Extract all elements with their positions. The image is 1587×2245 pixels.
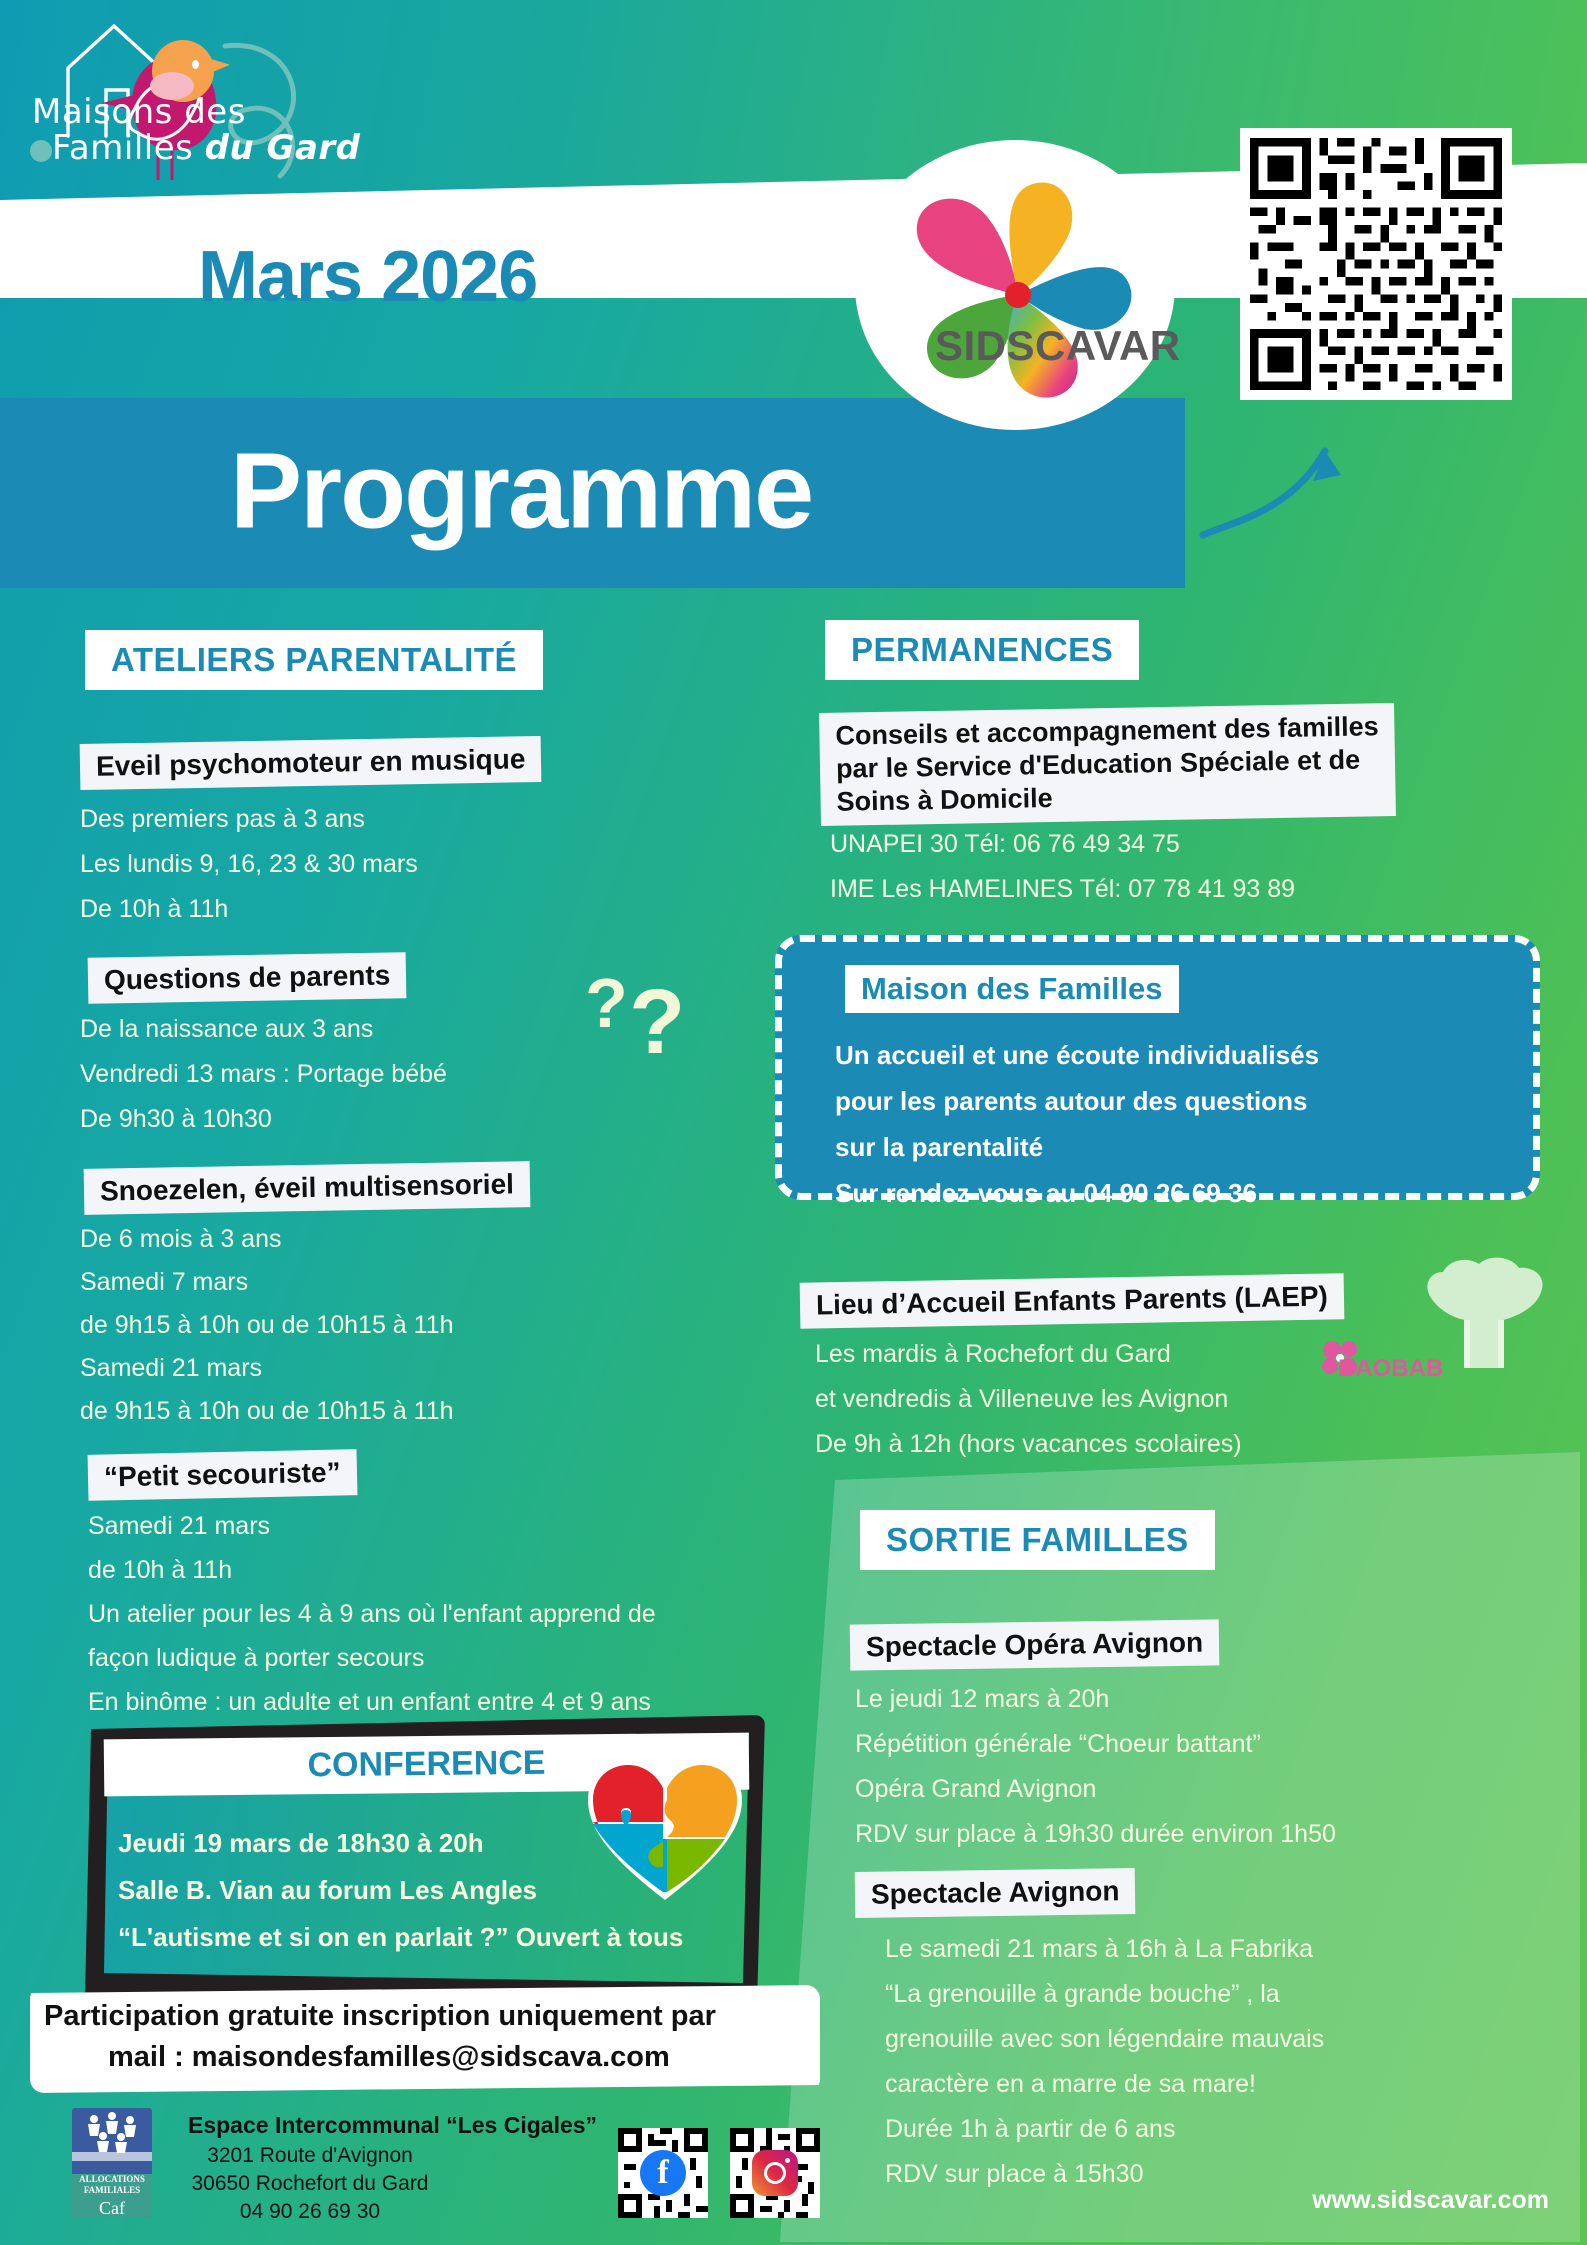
phone-number: 04 90 26 69 30 [130,2200,490,2224]
sidscavar-logo: SIDSCAVAR [855,140,1175,410]
atelier-title-0: Eveil psychomoteur en musique [80,736,542,790]
website-url[interactable]: www.sidscavar.com [1312,2186,1549,2215]
venue-name: Espace Intercommunal “Les Cigales” [188,2112,597,2139]
laep-line-2: De 9h à 12h (hors vacances scolaires) [815,1430,1242,1459]
address-line-1: 3201 Route d'Avignon [130,2144,490,2168]
maison-box-line-1: pour les parents autour des questions [835,1086,1307,1117]
section-title-permanences: PERMANENCES [825,620,1139,680]
atelier-title-2: Snoezelen, éveil multisensoriel [84,1161,531,1215]
conference-line-0: Jeudi 19 mars de 18h30 à 20h [118,1828,484,1859]
bird-eye-shape [192,60,199,69]
instagram-dot-shape [785,2158,790,2163]
instagram-icon[interactable] [752,2150,798,2196]
maison-box-line-3: Sur rendez-vous au 04 90 26 69 36 [835,1178,1257,1209]
question-marks-icon: ? ? [585,965,705,1075]
atelier-title-1: Questions de parents [88,952,407,1004]
sortie-1-line-4: Durée 1h à partir de 6 ans [885,2115,1175,2144]
section-title-sortie: SORTIE FAMILLES [860,1510,1215,1570]
logo-text-dugard: du Gard [205,128,361,168]
main-qr-code[interactable] [1240,128,1512,400]
permanences-contact-1: IME Les HAMELINES Tél: 07 78 41 93 89 [830,875,1295,904]
atelier-3-line-0: Samedi 21 mars [88,1512,270,1541]
sortie-title-1: Spectacle Avignon [855,1868,1136,1918]
sortie-0-line-0: Le jeudi 12 mars à 20h [855,1685,1109,1714]
atelier-1-line-0: De la naissance aux 3 ans [80,1015,373,1044]
participation-line-2: mail : maisondesfamilles@sidscava.com [108,2041,670,2074]
atelier-2-line-0: De 6 mois à 3 ans [80,1225,282,1254]
logo-text-familles: Familles [52,128,205,168]
laep-line-1: et vendredis à Villeneuve les Avignon [815,1385,1228,1414]
maison-box-title: Maison des Familles [845,965,1179,1013]
atelier-3-line-4: En binôme : un adulte et un enfant entre… [88,1688,651,1717]
instagram-ring-shape [764,2162,786,2184]
sortie-1-line-0: Le samedi 21 mars à 16h à La Fabrika [885,1935,1313,1964]
facebook-icon[interactable]: f [640,2150,686,2196]
atelier-0-line-2: De 10h à 11h [80,895,228,924]
svg-text:?: ? [585,965,628,1042]
atelier-3-line-3: façon ludique à porter secours [88,1644,424,1673]
page-title: Programme [230,428,812,553]
sortie-1-line-2: grenouille avec son légendaire mauvais [885,2025,1324,2054]
sortie-0-line-1: Répétition générale “Choeur battant” [855,1730,1261,1759]
qr-arrow-icon [1195,425,1365,545]
atelier-2-line-2: de 9h15 à 10h ou de 10h15 à 11h [80,1311,454,1340]
conference-line-2: “L'autisme et si on en parlait ?” Ouvert… [118,1922,683,1953]
baobab-label: BAOBAB [1338,1355,1443,1383]
baobab-tree-icon [1405,1250,1565,1370]
atelier-0-line-1: Les lundis 9, 16, 23 & 30 mars [80,850,418,879]
atelier-2-line-3: Samedi 21 mars [80,1354,262,1383]
participation-line-1: Participation gratuite inscription uniqu… [44,2000,716,2033]
logo-dot [30,140,52,162]
atelier-title-3: “Petit secouriste” [88,1449,357,1501]
permanences-intro-box: Conseils et accompagnement des familles … [819,703,1396,826]
permanences-contact-0: UNAPEI 30 Tél: 06 76 49 34 75 [830,830,1180,859]
sortie-1-line-1: “La grenouille à grande bouche” , la [885,1980,1280,2009]
atelier-3-line-2: Un atelier pour les 4 à 9 ans où l'enfan… [88,1600,656,1629]
address-line-2: 30650 Rochefort du Gard [130,2172,490,2196]
logo-text-line1: Maisons des [32,92,246,132]
sidscavar-center-dot [1005,282,1031,308]
conference-line-1: Salle B. Vian au forum Les Angles [118,1875,537,1906]
sortie-1-line-3: caractère en a marre de sa mare! [885,2070,1256,2099]
atelier-3-line-1: de 10h à 11h [88,1556,232,1585]
maison-box-line-2: sur la parentalité [835,1132,1043,1163]
autism-puzzle-heart-icon [580,1750,750,1910]
laep-line-0: Les mardis à Rochefort du Gard [815,1340,1171,1369]
sortie-1-line-5: RDV sur place à 15h30 [885,2160,1143,2189]
atelier-2-line-1: Samedi 7 mars [80,1268,248,1297]
atelier-1-line-2: De 9h30 à 10h30 [80,1105,272,1134]
logo-text-line2: Familles du Gard [52,128,361,168]
section-title-ateliers: ATELIERS PARENTALITÉ [85,630,543,690]
atelier-1-line-1: Vendredi 13 mars : Portage bébé [80,1060,447,1089]
atelier-2-line-4: de 9h15 à 10h ou de 10h15 à 11h [80,1397,454,1426]
sortie-0-line-3: RDV sur place à 19h30 durée environ 1h50 [855,1820,1336,1849]
month-label: Mars 2026 [198,236,537,318]
laep-title: Lieu d’Accueil Enfants Parents (LAEP) [800,1273,1345,1328]
maison-box-line-0: Un accueil et une écoute individualisés [835,1040,1319,1071]
svg-text:?: ? [629,971,685,1073]
sidscavar-wordmark: SIDSCAVAR [935,322,1181,370]
atelier-0-line-0: Des premiers pas à 3 ans [80,805,365,834]
sortie-title-0: Spectacle Opéra Avignon [850,1619,1220,1670]
sortie-0-line-2: Opéra Grand Avignon [855,1775,1096,1804]
